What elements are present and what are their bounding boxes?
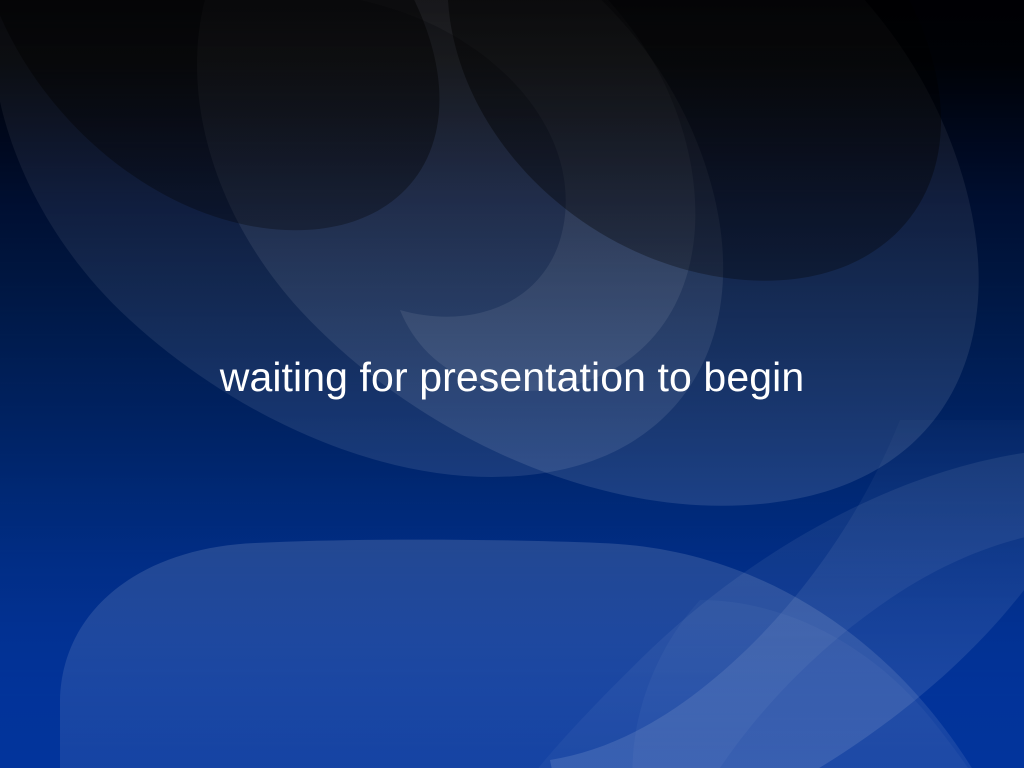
top-blob-large xyxy=(0,0,723,477)
bottom-blob-upper-arc xyxy=(515,452,1024,768)
bottom-blob-overlap-highlight xyxy=(633,600,999,768)
top-blob-crescent xyxy=(215,0,695,391)
slide-title: waiting for presentation to begin xyxy=(220,352,805,402)
top-blob-right xyxy=(197,0,979,506)
bottom-blob-left xyxy=(60,540,985,768)
bottom-blob-arc xyxy=(550,420,1024,768)
slide-title-container: waiting for presentation to begin xyxy=(0,352,1024,402)
top-void-right xyxy=(447,0,941,281)
presentation-slide: waiting for presentation to begin xyxy=(0,0,1024,768)
top-void-left xyxy=(0,0,439,230)
